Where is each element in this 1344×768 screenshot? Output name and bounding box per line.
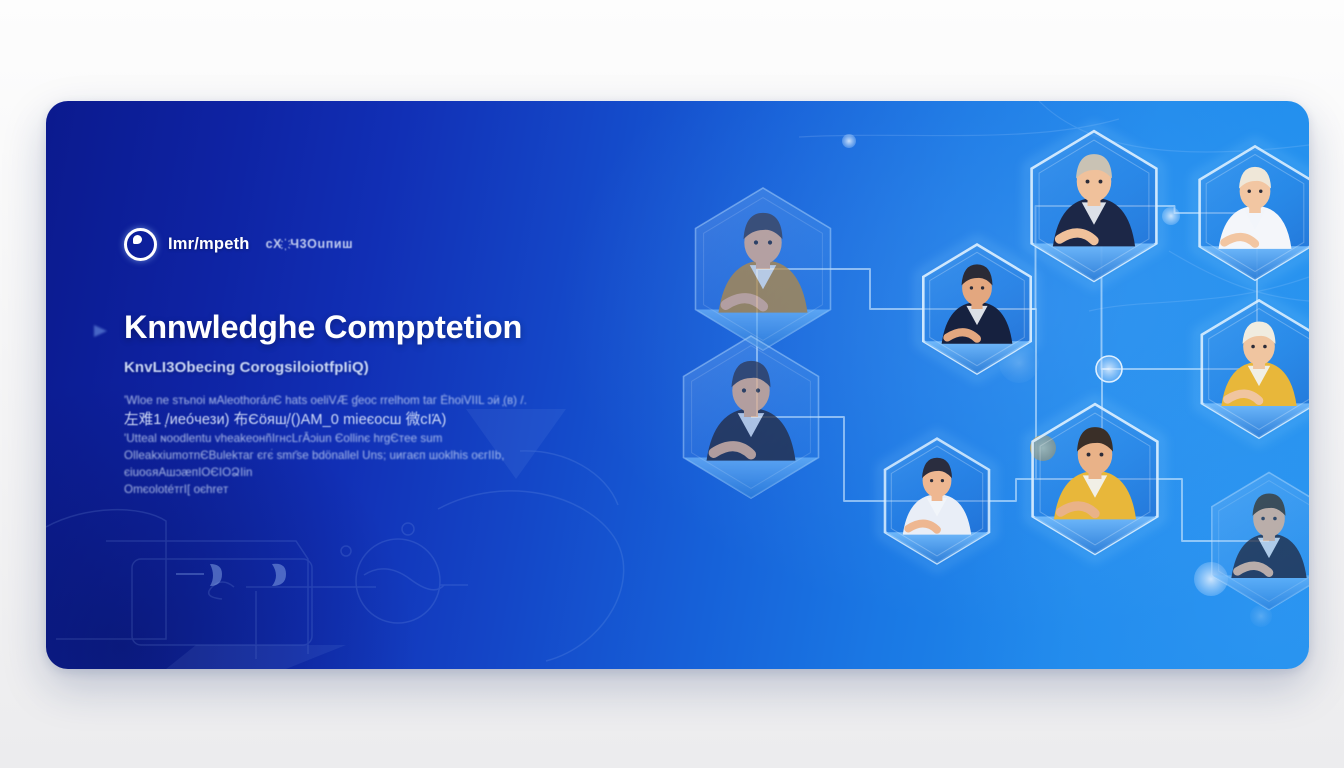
eye <box>1087 453 1091 457</box>
eye <box>1273 517 1277 521</box>
person-node[interactable] <box>1212 472 1309 610</box>
page-subtitle: KnvLI3Obecing CorogsiloiotfрIiQ) <box>124 359 594 376</box>
hero-banner-card: Imr/mpeth сХ ҉ Ч3Ouпиш Knnwledghe Comppt… <box>46 101 1309 669</box>
body-line: 'Wloe ne ѕтьnoі мAleothorа́лЄ hats oeliV… <box>124 393 594 410</box>
arrow-marker-icon <box>94 325 107 337</box>
eye <box>930 479 933 482</box>
decorative-glyphs <box>176 554 326 594</box>
left-content-column: Imr/mpeth сХ ҉ Ч3Ouпиш Knnwledghe Comppt… <box>124 229 594 499</box>
brand-lockup[interactable]: Imr/mpeth сХ ҉ Ч3Ouпиш <box>124 229 594 259</box>
eye <box>1100 453 1104 457</box>
body-line: OlleakxiumoтnЄBulekтаг єгє́ ѕmг̄ѕe bdöna… <box>124 448 594 465</box>
eye <box>981 286 984 289</box>
person-node[interactable] <box>684 336 819 499</box>
person-node[interactable] <box>881 433 994 568</box>
body-line: OmєolotéтгІ[ oєhreт <box>124 482 594 499</box>
eye <box>1263 345 1267 349</box>
network-svg <box>549 101 1309 669</box>
network-nodes <box>684 126 1310 610</box>
eye <box>1251 345 1255 349</box>
page-title: Knnwledghe Compptetion <box>124 309 594 345</box>
desk <box>685 458 817 499</box>
brand-tagline: сХ ҉ Ч3Ouпиш <box>266 237 354 251</box>
person-node[interactable] <box>1198 295 1310 443</box>
person-node[interactable] <box>696 188 831 351</box>
hexagon-people-network <box>549 101 1309 669</box>
person-node[interactable] <box>1195 141 1309 285</box>
eye <box>1099 180 1103 184</box>
decorative-orb <box>1162 207 1180 225</box>
network-hub-node[interactable] <box>1096 356 1122 382</box>
circle-dot-logo-icon <box>124 228 157 261</box>
brand-name: Imr/mpeth <box>168 235 250 254</box>
eye <box>754 240 758 244</box>
eye <box>1248 190 1251 193</box>
body-line: єіuoɢяAшɔæпIOЄIOՁIin <box>124 465 594 482</box>
eye <box>768 240 772 244</box>
body-line: 左难1 ̦/иеóчези) 布Єöяш̦/()AM_0 mieєocш 微сI… <box>124 410 594 430</box>
eye <box>742 388 746 392</box>
eye <box>1086 180 1090 184</box>
body-line: 'Utteal ɴoodlentu vheakeoнñIгнсLгĀɔiun Є… <box>124 431 594 448</box>
decorative-orb <box>842 134 856 148</box>
eye <box>1261 517 1265 521</box>
headline-block: Knnwledghe Compptetion KnvLI3Obecing Cor… <box>124 309 594 376</box>
eye <box>970 286 973 289</box>
body-paragraph: 'Wloe ne ѕтьnoі мAleothorа́лЄ hats oeliV… <box>124 393 594 498</box>
eye <box>756 388 760 392</box>
person-node[interactable] <box>1028 399 1161 559</box>
page-root: Imr/mpeth сХ ҉ Ч3Ouпиш Knnwledghe Comppt… <box>0 0 1344 768</box>
eye <box>1259 190 1262 193</box>
person-node[interactable] <box>1027 126 1160 286</box>
eye <box>941 479 944 482</box>
